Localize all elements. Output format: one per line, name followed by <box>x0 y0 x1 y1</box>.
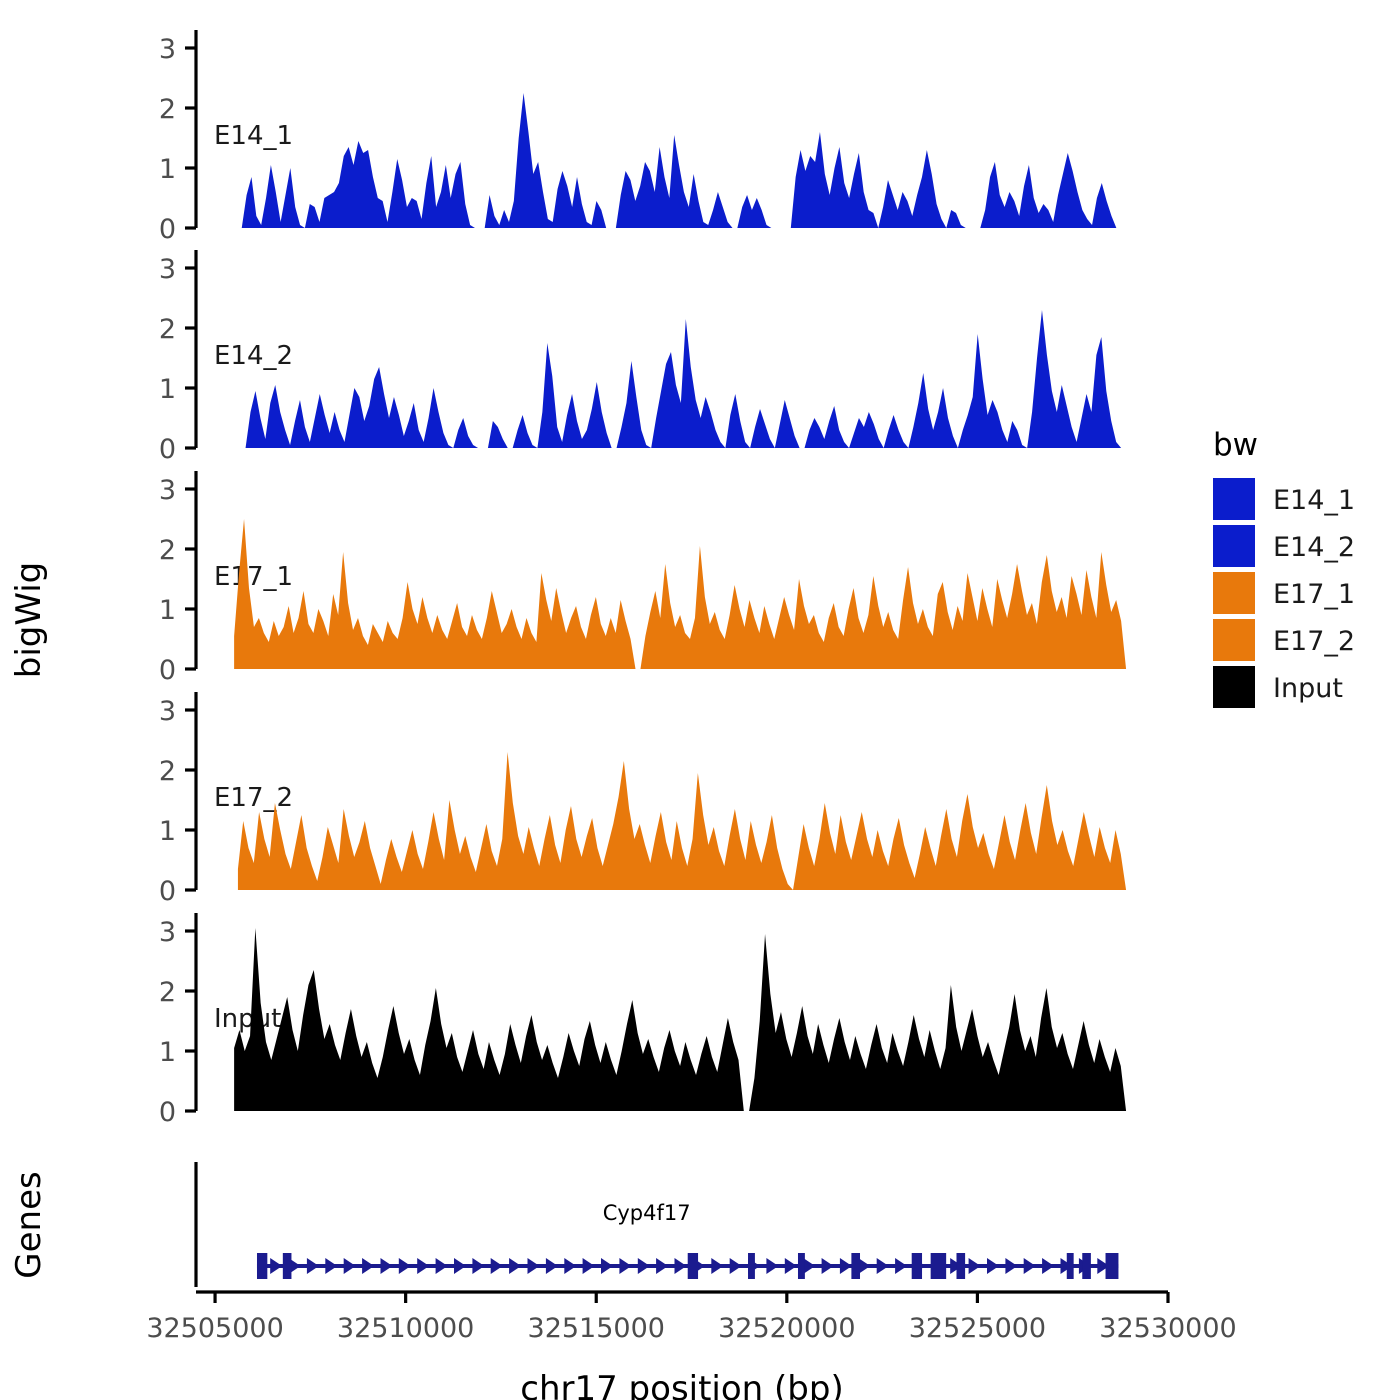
y-tick-label-Input-3: 3 <box>159 917 176 948</box>
y-tick-label-Input-1: 1 <box>159 1037 176 1068</box>
legend-label-E14_2: E14_2 <box>1273 532 1355 563</box>
gene-strand-arrow <box>399 1258 411 1274</box>
legend-label-Input: Input <box>1273 673 1343 704</box>
gene-exon-block <box>688 1253 698 1279</box>
legend-label-E14_1: E14_1 <box>1273 485 1355 516</box>
legend-swatch-E17_1[interactable] <box>1213 572 1255 614</box>
legend-swatch-Input[interactable] <box>1213 666 1255 708</box>
y-tick-label-E17_2-3: 3 <box>159 696 176 727</box>
gene-exon-block <box>283 1253 292 1279</box>
gene-strand-arrow <box>546 1258 558 1274</box>
legend-swatch-E17_2[interactable] <box>1213 619 1255 661</box>
gene-exon-block <box>912 1253 922 1279</box>
x-tick-label-32530000: 32530000 <box>1099 1313 1236 1344</box>
gene-strand-arrow <box>307 1258 319 1274</box>
gene-strand-arrow <box>656 1258 668 1274</box>
gene-exon-block <box>851 1253 860 1279</box>
gene-strand-arrow <box>895 1258 907 1274</box>
y-tick-label-E14_2-0: 0 <box>159 434 176 465</box>
track-area-E14_1 <box>242 93 1126 228</box>
legend-label-E17_2: E17_2 <box>1273 626 1355 657</box>
gene-strand-arrow <box>987 1258 999 1274</box>
gene-strand-arrow <box>509 1258 521 1274</box>
genome-browser-figure: 0123E14_10123E14_20123E17_10123E17_20123… <box>0 0 1400 1400</box>
gene-exon-block <box>1106 1253 1119 1279</box>
gene-exon-block <box>257 1253 267 1279</box>
y-tick-label-E14_2-3: 3 <box>159 254 176 285</box>
legend-swatch-E14_1[interactable] <box>1213 478 1255 520</box>
gene-strand-arrow <box>711 1258 723 1274</box>
y-tick-label-E17_1-2: 2 <box>159 535 176 566</box>
gene-strand-arrow <box>381 1258 393 1274</box>
x-tick-label-32510000: 32510000 <box>337 1313 474 1344</box>
gene-strand-arrow <box>491 1258 503 1274</box>
gene-strand-arrow <box>454 1258 466 1274</box>
gene-strand-arrow <box>969 1258 981 1274</box>
y-tick-label-Input-2: 2 <box>159 977 176 1008</box>
gene-strand-arrow <box>1005 1258 1017 1274</box>
panel-label-E17_2: E17_2 <box>214 783 293 813</box>
gene-strand-arrow <box>877 1258 889 1274</box>
figure-canvas: 0123E14_10123E14_20123E17_10123E17_20123… <box>0 0 1400 1400</box>
gene-strand-arrow <box>270 1258 282 1274</box>
gene-exon-block <box>931 1253 947 1279</box>
gene-exon-block <box>1082 1253 1091 1279</box>
panel-label-Input: Input <box>214 1004 281 1034</box>
y-tick-label-Input-0: 0 <box>159 1097 176 1128</box>
gene-name-label: Cyp4f17 <box>603 1201 691 1225</box>
y-tick-label-E17_1-1: 1 <box>159 595 176 626</box>
gene-strand-arrow <box>785 1258 797 1274</box>
y-tick-label-E17_2-2: 2 <box>159 756 176 787</box>
gene-strand-arrow <box>601 1258 613 1274</box>
gene-strand-arrow <box>803 1258 815 1274</box>
gene-exon-block <box>956 1253 965 1279</box>
y-tick-label-E17_2-0: 0 <box>159 876 176 907</box>
gene-strand-arrow <box>840 1258 852 1274</box>
y-tick-label-E17_2-1: 1 <box>159 816 176 847</box>
track-area-E14_2 <box>246 310 1127 448</box>
track-area-Input <box>234 928 1126 1111</box>
x-tick-label-32505000: 32505000 <box>146 1313 283 1344</box>
y-tick-label-E17_1-3: 3 <box>159 475 176 506</box>
y-tick-label-E14_1-0: 0 <box>159 214 176 245</box>
y-tick-label-E14_1-1: 1 <box>159 154 176 185</box>
legend-label-E17_1: E17_1 <box>1273 579 1355 610</box>
gene-exon-block <box>798 1253 805 1279</box>
gene-strand-arrow <box>362 1258 374 1274</box>
x-tick-label-32515000: 32515000 <box>528 1313 665 1344</box>
gene-strand-arrow <box>1042 1258 1054 1274</box>
gene-strand-arrow <box>822 1258 834 1274</box>
gene-strand-arrow <box>564 1258 576 1274</box>
gene-strand-arrow <box>583 1258 595 1274</box>
gene-strand-arrow <box>436 1258 448 1274</box>
y-tick-label-E14_2-2: 2 <box>159 314 176 345</box>
panel-label-E14_1: E14_1 <box>214 121 293 151</box>
gene-strand-arrow <box>528 1258 540 1274</box>
gene-strand-arrow <box>1024 1258 1036 1274</box>
panel-label-E17_1: E17_1 <box>214 562 293 592</box>
gene-exon-block <box>748 1253 755 1279</box>
gene-strand-arrow <box>344 1258 356 1274</box>
legend-swatch-E14_2[interactable] <box>1213 525 1255 567</box>
gene-strand-arrow <box>766 1258 778 1274</box>
gene-strand-arrow <box>619 1258 631 1274</box>
gene-strand-arrow <box>325 1258 337 1274</box>
x-tick-label-32525000: 32525000 <box>909 1313 1046 1344</box>
legend-title: bw <box>1213 427 1258 463</box>
gene-strand-arrow <box>638 1258 650 1274</box>
genes-axis-title: Genes <box>9 1171 49 1278</box>
y-tick-label-E14_1-3: 3 <box>159 34 176 65</box>
gene-strand-arrow <box>675 1258 687 1274</box>
y-tick-label-E14_2-1: 1 <box>159 374 176 405</box>
gene-strand-arrow <box>730 1258 742 1274</box>
x-axis-title: chr17 position (bp) <box>520 1369 843 1400</box>
track-area-E17_2 <box>238 752 1126 890</box>
gene-exon-block <box>1067 1253 1074 1279</box>
panel-label-E14_2: E14_2 <box>214 341 293 371</box>
y-tick-label-E14_1-2: 2 <box>159 94 176 125</box>
track-area-E17_1 <box>234 519 1126 669</box>
gene-strand-arrow <box>858 1258 870 1274</box>
y-axis-title: bigWig <box>9 562 49 679</box>
gene-strand-arrow <box>472 1258 484 1274</box>
y-tick-label-E17_1-0: 0 <box>159 655 176 686</box>
gene-strand-arrow <box>417 1258 429 1274</box>
x-tick-label-32520000: 32520000 <box>718 1313 855 1344</box>
